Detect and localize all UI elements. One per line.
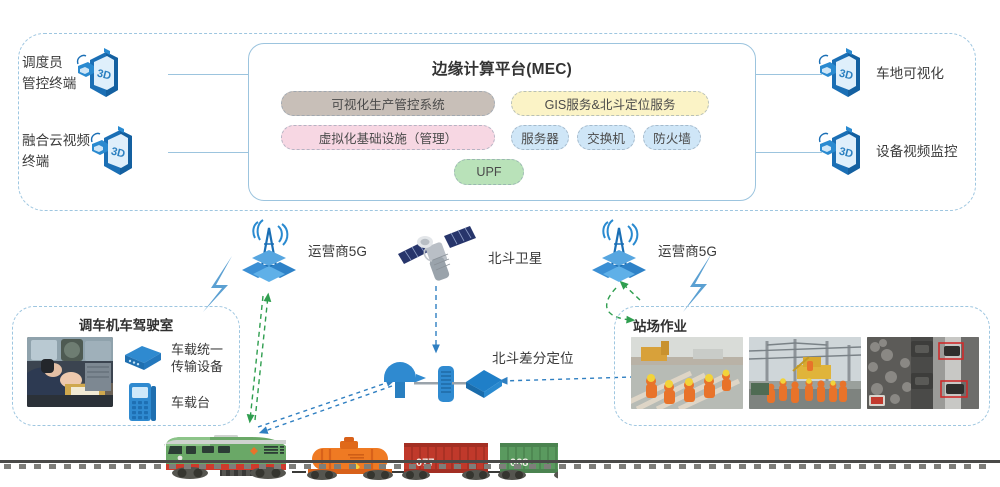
freight-train: 077 068 [158,424,558,487]
train-car-tank [292,437,393,480]
mec-tag-switch[interactable]: 交换机 [577,125,635,150]
cab-item-transmission-label: 车载统一 传输设备 [171,341,223,375]
train-illustration: 077 068 [158,424,558,482]
mec-tag-gis-beidou-service[interactable]: GIS服务&北斗定位服务 [511,91,709,116]
satellite-icon [392,226,480,288]
terminal-dispatch[interactable]: 调度员 管控终端 3D [22,42,122,104]
mec-tag-virtual-infrastructure[interactable]: 虚拟化基础设施（管理） [281,125,495,150]
railway-track [0,460,1000,472]
cab-item-mobile-radio[interactable]: 车载台 [123,381,210,423]
mec-title: 边缘计算平台(MEC) [249,57,755,79]
terminal-vehicle-ground-visual[interactable]: 3D 车地可视化 [818,42,944,104]
yard-photo-track-laying [631,337,743,409]
terminal-vehicle-ground-visual-label: 车地可视化 [876,63,944,84]
beidou-satellite[interactable]: 北斗卫星 [392,226,542,288]
terminal-equipment-video[interactable]: 3D 设备视频监控 [818,120,958,182]
lead-line-vehicle-visual [756,74,822,75]
5g-tower-icon [238,214,300,286]
station-yard-zone: 站场作业 [614,306,990,426]
locomotive-cab-zone: 调车机车驾驶室 [12,306,240,426]
mec-tag-firewall[interactable]: 防火墙 [643,125,701,150]
beidou-satellite-label: 北斗卫星 [488,247,542,267]
terminal-cloud-video[interactable]: 融合云视频 终端 3D [22,120,136,182]
3d-terminal-icon: 3D [90,120,136,182]
beidou-differential-unit[interactable] [380,352,504,415]
mobile-radio-icon [123,381,163,423]
yard-photo-rail-fastening [867,337,979,409]
3d-terminal-icon: 3D [818,42,864,104]
terminal-cloud-video-label: 融合云视频 终端 [22,130,90,172]
transmission-device-icon [123,342,163,374]
station-yard-title: 站场作业 [633,315,687,335]
operator-5g-tower-right-label: 运营商5G [658,240,717,260]
link-train-to-differential [258,381,392,427]
beidou-differential-label: 北斗差分定位 [492,347,574,367]
lead-line-equipment-video [756,152,822,153]
operator-5g-tower-left-label: 运营商5G [308,240,367,260]
train-car-locomotive [164,435,286,479]
operator-5g-tower-left[interactable]: 运营商5G [238,214,367,286]
signal-bolt-left-icon [203,256,232,312]
locomotive-cab-photo [27,337,113,407]
3d-terminal-icon: 3D [76,42,122,104]
operator-5g-tower-right[interactable]: 运营商5G [588,214,717,286]
terminal-equipment-video-label: 设备视频监控 [876,141,958,162]
link-cab-to-tower-up [255,296,268,420]
lead-line-dispatch [168,74,250,75]
station-yard-photo-strip [631,337,979,409]
cab-item-radio-label: 车载台 [171,394,210,411]
locomotive-cab-title: 调车机车驾驶室 [13,314,239,334]
differential-positioning-icon [380,352,504,410]
5g-tower-icon [588,214,650,286]
3d-terminal-icon: 3D [818,120,864,182]
mec-tag-server[interactable]: 服务器 [511,125,569,150]
mec-platform-panel: 边缘计算平台(MEC) 可视化生产管控系统 GIS服务&北斗定位服务 虚拟化基础… [248,43,756,201]
yard-photo-catenary-work [749,337,861,409]
mec-tag-visual-production-system[interactable]: 可视化生产管控系统 [281,91,495,116]
terminal-dispatch-label: 调度员 管控终端 [22,52,76,94]
cab-item-transmission-device[interactable]: 车载统一 传输设备 [123,341,223,375]
link-tower-to-cab-down [250,296,263,420]
lead-line-video [168,152,250,153]
mec-tag-upf[interactable]: UPF [454,159,524,185]
